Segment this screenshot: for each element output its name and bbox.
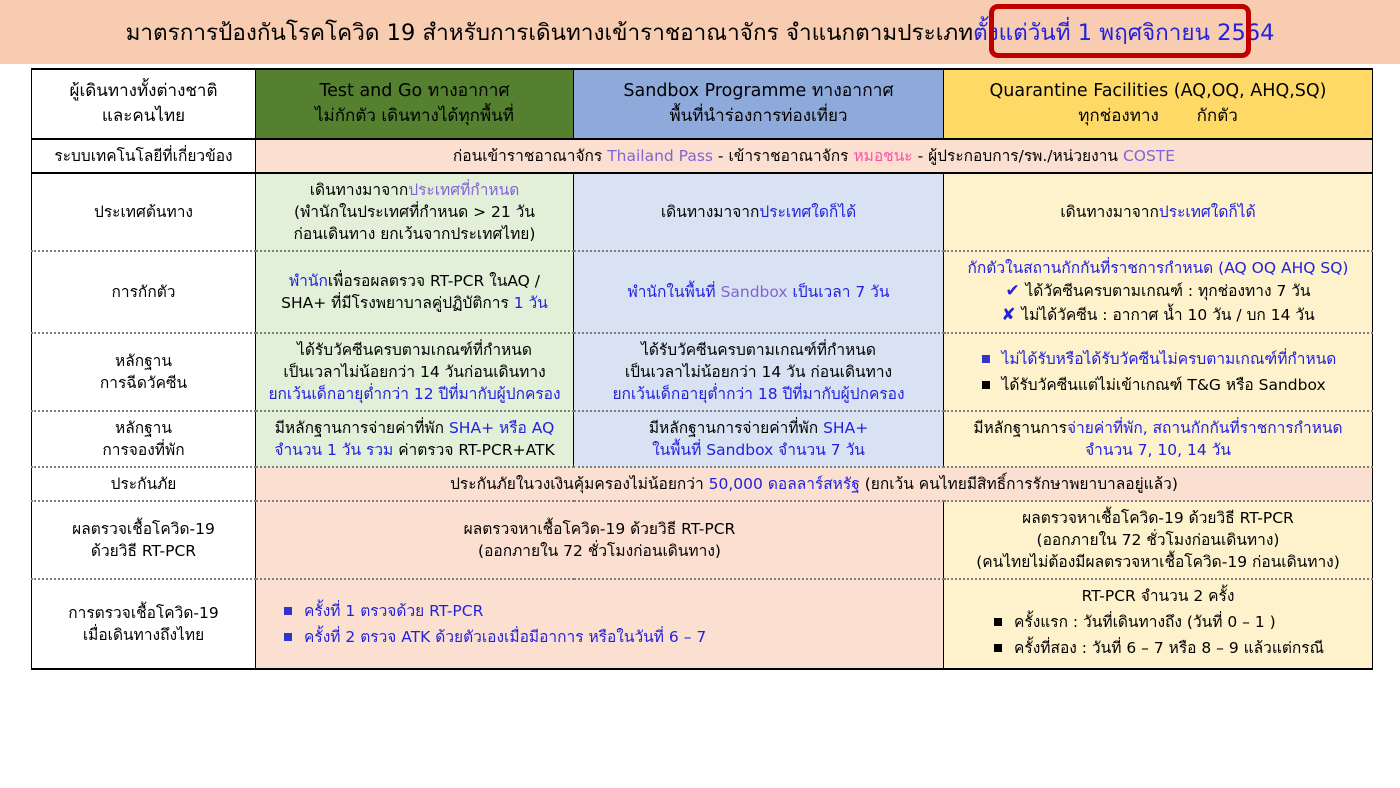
header-tng-line1: Test and Go ทางอากาศ <box>262 79 567 104</box>
cell-arrival-quarantine: RT-PCR จำนวน 2 ครั้ง ครั้งแรก : วันที่เด… <box>944 579 1373 669</box>
quarantine-sandbox-b: Sandbox <box>721 283 788 301</box>
rowlabel-vaccine-line1: หลักฐาน <box>38 350 249 372</box>
rowlabel-quarantine-rule: การกักตัว <box>32 251 256 333</box>
bullet-square-icon <box>994 644 1002 652</box>
header-cell-quarantine: Quarantine Facilities (AQ,OQ, AHQ,SQ) ทุ… <box>944 69 1373 139</box>
insurance-amount: 50,000 ดอลลาร์สหรัฐ <box>709 475 860 493</box>
tech-coste: COSTE <box>1123 147 1175 165</box>
quarantine-sandbox-c: เป็นเวลา 7 วัน <box>793 283 890 301</box>
rowlabel-arrival-test: การตรวจเชื้อโควิด-19 เมื่อเดินทางถึงไทย <box>32 579 256 669</box>
tech-before-entry: ก่อนเข้าราชอาณาจักร <box>453 147 602 165</box>
bullet-square-icon <box>982 355 990 363</box>
origin-sandbox-a: เดินทางมาจาก <box>661 203 760 221</box>
arrival-q-bullet1: ครั้งแรก : วันที่เดินทางถึง (วันที่ 0 – … <box>1014 613 1276 631</box>
cell-origin-quarantine: เดินทางมาจากประเทศใดก็ได้ <box>944 173 1373 251</box>
quarantine-q-line1: กักตัวในสถานกักกันที่ราชการกำหนด (AQ OQ … <box>950 257 1366 279</box>
booking-q-line2: จำนวน 7, 10, 14 วัน <box>950 439 1366 461</box>
origin-tng-line1-a: เดินทางมาจาก <box>310 181 409 199</box>
bullet-square-icon <box>982 381 990 389</box>
rtpcr-q-line2: (ออกภายใน 72 ชั่วโมงก่อนเดินทาง) <box>950 529 1366 551</box>
rtpcr-shared-line2: (ออกภายใน 72 ชั่วโมงก่อนเดินทาง) <box>262 540 937 562</box>
rowlabel-rtpcr-line1: ผลตรวจเชื้อโควิด-19 <box>38 518 249 540</box>
vaccine-sandbox-line2: เป็นเวลาไม่น้อยกว่า 14 วัน ก่อนเดินทาง <box>580 361 937 383</box>
rowlabel-vaccine-proof: หลักฐาน การฉีดวัคซีน <box>32 333 256 411</box>
header-quarantine-isolate: กักตัว <box>1197 106 1238 126</box>
booking-tng-line2: จำนวน 1 วัน รวม ค่าตรวจ RT-PCR+ATK <box>262 439 567 461</box>
list-item: ครั้งที่ 2 ตรวจ ATK ด้วยตัวเองเมื่อมีอาก… <box>282 626 706 648</box>
rtpcr-q-line3: (คนไทยไม่ต้องมีผลตรวจหาเชื้อโควิด-19 ก่อ… <box>950 551 1366 573</box>
cell-arrival-shared: ครั้งที่ 1 ตรวจด้วย RT-PCR ครั้งที่ 2 ตร… <box>256 579 944 669</box>
cell-rtpcr-shared: ผลตรวจหาเชื้อโควิด-19 ด้วยวิธี RT-PCR (อ… <box>256 501 944 579</box>
booking-sb-line1-b: SHA+ <box>823 419 868 437</box>
row-origin-country: ประเทศต้นทาง เดินทางมาจากประเทศที่กำหนด … <box>32 173 1373 251</box>
rowlabel-origin-country: ประเทศต้นทาง <box>32 173 256 251</box>
cell-quarantine-tng: พำนักเพื่อรอผลตรวจ RT-PCR ในAQ / SHA+ ที… <box>256 251 574 333</box>
booking-tng-line2-a: จำนวน 1 วัน รวม <box>274 441 393 459</box>
vaccine-tng-line2: เป็นเวลาไม่น้อยกว่า 14 วันก่อนเดินทาง <box>262 361 567 383</box>
quarantine-q-vaccinated: ได้วัคซีนครบตามเกณฑ์ : ทุกช่องทาง 7 วัน <box>1025 282 1310 300</box>
cell-quarantine-facilities: กักตัวในสถานกักกันที่ราชการกำหนด (AQ OQ … <box>944 251 1373 333</box>
check-icon: ✔ <box>1005 279 1025 303</box>
table-header-row: ผู้เดินทางทั้งต่างชาติ และคนไทย Test and… <box>32 69 1373 139</box>
cell-booking-sandbox: มีหลักฐานการจ่ายค่าที่พัก SHA+ ในพื้นที่… <box>574 411 944 467</box>
row-quarantine-rule: การกักตัว พำนักเพื่อรอผลตรวจ RT-PCR ในAQ… <box>32 251 1373 333</box>
rowlabel-booking-line1: หลักฐาน <box>38 417 249 439</box>
booking-sb-line2: ในพื้นที่ Sandbox จำนวน 7 วัน <box>580 439 937 461</box>
rowlabel-arrival-line1: การตรวจเชื้อโควิด-19 <box>38 602 249 624</box>
tech-operators: ผู้ประกอบการ/รพ./หน่วยงาน <box>928 147 1118 165</box>
cell-booking-quarantine: มีหลักฐานการจ่ายค่าที่พัก, สถานกักกันที่… <box>944 411 1373 467</box>
tech-on-entry: เข้าราชอาณาจักร <box>728 147 848 165</box>
booking-tng-line1-b: SHA+ หรือ AQ <box>449 419 554 437</box>
row-insurance: ประกันภัย ประกันภัยในวงเงินคุ้มครองไม่น้… <box>32 467 1373 501</box>
quarantine-tng-await: เพื่อรอผลตรวจ RT-PCR ใน <box>328 272 507 290</box>
title-banner: มาตรการป้องกันโรคโควิด 19 สำหรับการเดินท… <box>0 0 1400 64</box>
header-cell-traveler: ผู้เดินทางทั้งต่างชาติ และคนไทย <box>32 69 256 139</box>
cell-vaccine-sandbox: ได้รับวัคซีนครบตามเกณฑ์ที่กำหนด เป็นเวลา… <box>574 333 944 411</box>
page-root: มาตรการป้องกันโรคโควิด 19 สำหรับการเดินท… <box>0 0 1400 788</box>
vaccine-q-bullet1: ไม่ได้รับหรือได้รับวัคซีนไม่ครบตามเกณฑ์ท… <box>1002 350 1337 368</box>
header-traveler-line2: และคนไทย <box>38 104 249 129</box>
cell-tech-system-all: ก่อนเข้าราชอาณาจักร Thailand Pass - เข้า… <box>256 139 1373 173</box>
tech-sep-2: - <box>918 147 924 165</box>
insurance-exception: (ยกเว้น คนไทยมีสิทธิ์การรักษาพยาบาลอยู่แ… <box>865 475 1178 493</box>
cross-icon: ✘ <box>1001 303 1021 327</box>
tech-thailand-pass: Thailand Pass <box>607 147 713 165</box>
quarantine-tng-shaplus: SHA+ ที่มีโรงพยาบาลคู่ปฏิบัติการ <box>281 294 509 312</box>
rowlabel-arrival-line2: เมื่อเดินทางถึงไทย <box>38 624 249 646</box>
list-item: ไม่ได้รับหรือได้รับวัคซีนไม่ครบตามเกณฑ์ท… <box>980 348 1337 370</box>
origin-sandbox-b: ประเทศใดก็ได้ <box>759 203 856 221</box>
booking-q-line1: มีหลักฐานการจ่ายค่าที่พัก, สถานกักกันที่… <box>950 417 1366 439</box>
quarantine-q-line2: ✔ได้วัคซีนครบตามเกณฑ์ : ทุกช่องทาง 7 วัน <box>950 279 1366 303</box>
cell-quarantine-sandbox: พำนักในพื้นที่ Sandbox เป็นเวลา 7 วัน <box>574 251 944 333</box>
measures-table: ผู้เดินทางทั้งต่างชาติ และคนไทย Test and… <box>31 68 1373 670</box>
quarantine-tng-line2: SHA+ ที่มีโรงพยาบาลคู่ปฏิบัติการ 1 วัน <box>262 292 567 314</box>
cell-origin-tng: เดินทางมาจากประเทศที่กำหนด (พำนักในประเท… <box>256 173 574 251</box>
booking-tng-line1-a: มีหลักฐานการจ่ายค่าที่พัก <box>275 419 444 437</box>
header-traveler-line1: ผู้เดินทางทั้งต่างชาติ <box>38 79 249 104</box>
rowlabel-vaccine-line2: การฉีดวัคซีน <box>38 372 249 394</box>
rtpcr-shared-line1: ผลตรวจหาเชื้อโควิด-19 ด้วยวิธี RT-PCR <box>262 518 937 540</box>
quarantine-q-line3: ✘ไม่ได้วัคซีน : อากาศ น้ำ 10 วัน / บก 14… <box>950 303 1366 327</box>
list-item: ได้รับวัคซีนแต่ไม่เข้าเกณฑ์ T&G หรือ San… <box>980 374 1337 396</box>
arrival-quarantine-bullets: ครั้งแรก : วันที่เดินทางถึง (วันที่ 0 – … <box>992 607 1324 663</box>
vaccine-q-bullet2: ได้รับวัคซีนแต่ไม่เข้าเกณฑ์ T&G หรือ San… <box>1002 376 1326 394</box>
bullet-square-icon <box>284 607 292 615</box>
arrival-shared-bullet2: ครั้งที่ 2 ตรวจ ATK ด้วยตัวเองเมื่อมีอาก… <box>304 628 706 646</box>
booking-sb-line1-a: มีหลักฐานการจ่ายค่าที่พัก <box>649 419 818 437</box>
insurance-text-1: ประกันภัยในวงเงินคุ้มครองไม่น้อยกว่า <box>450 475 704 493</box>
booking-q-line1-b: จ่ายค่าที่พัก, สถานกักกันที่ราชการกำหนด <box>1067 419 1343 437</box>
quarantine-tng-days: 1 วัน <box>514 294 548 312</box>
quarantine-tng-aq: AQ / <box>507 272 540 290</box>
tech-mor-chana: หมอชนะ <box>853 147 912 165</box>
bullet-square-icon <box>994 618 1002 626</box>
header-quarantine-line1: Quarantine Facilities (AQ,OQ, AHQ,SQ) <box>950 79 1366 104</box>
origin-tng-line1: เดินทางมาจากประเทศที่กำหนด <box>262 179 567 201</box>
row-booking-proof: หลักฐาน การจองที่พัก มีหลักฐานการจ่ายค่า… <box>32 411 1373 467</box>
booking-tng-line1: มีหลักฐานการจ่ายค่าที่พัก SHA+ หรือ AQ <box>262 417 567 439</box>
header-sandbox-line2: พื้นที่นำร่องการท่องเที่ยว <box>580 104 937 129</box>
header-cell-test-and-go: Test and Go ทางอากาศ ไม่กักตัว เดินทางได… <box>256 69 574 139</box>
rowlabel-insurance: ประกันภัย <box>32 467 256 501</box>
cell-rtpcr-quarantine: ผลตรวจหาเชื้อโควิด-19 ด้วยวิธี RT-PCR (อ… <box>944 501 1373 579</box>
cell-vaccine-quarantine: ไม่ได้รับหรือได้รับวัคซีนไม่ครบตามเกณฑ์ท… <box>944 333 1373 411</box>
origin-tng-line3: ก่อนเดินทาง ยกเว้นจากประเทศไทย) <box>262 223 567 245</box>
list-item: ครั้งที่สอง : วันที่ 6 – 7 หรือ 8 – 9 แล… <box>992 637 1324 659</box>
booking-q-line1-a: มีหลักฐานการ <box>973 419 1067 437</box>
quarantine-sandbox-a: พำนักในพื้นที่ <box>628 283 716 301</box>
vaccine-sandbox-line1: ได้รับวัคซีนครบตามเกณฑ์ที่กำหนด <box>580 339 937 361</box>
quarantine-tng-line1: พำนักเพื่อรอผลตรวจ RT-PCR ในAQ / <box>262 270 567 292</box>
page-title-main: มาตรการป้องกันโรคโควิด 19 สำหรับการเดินท… <box>126 20 973 46</box>
bullet-square-icon <box>284 633 292 641</box>
row-rtpcr-result: ผลตรวจเชื้อโควิด-19 ด้วยวิธี RT-PCR ผลตร… <box>32 501 1373 579</box>
booking-tng-line2-b: ค่าตรวจ RT-PCR+ATK <box>398 441 554 459</box>
header-quarantine-channel: ทุกช่องทาง <box>1078 106 1159 126</box>
rtpcr-q-line1: ผลตรวจหาเชื้อโควิด-19 ด้วยวิธี RT-PCR <box>950 507 1366 529</box>
booking-sandbox-line1: มีหลักฐานการจ่ายค่าที่พัก SHA+ <box>580 417 937 439</box>
list-item: ครั้งแรก : วันที่เดินทางถึง (วันที่ 0 – … <box>992 611 1324 633</box>
cell-booking-tng: มีหลักฐานการจ่ายค่าที่พัก SHA+ หรือ AQ จ… <box>256 411 574 467</box>
header-quarantine-line2: ทุกช่องทาง กักตัว <box>950 104 1366 129</box>
row-tech-system: ระบบเทคโนโลยีที่เกี่ยวข้อง ก่อนเข้าราชอา… <box>32 139 1373 173</box>
header-tng-line2: ไม่กักตัว เดินทางได้ทุกพื้นที่ <box>262 104 567 129</box>
origin-quarantine-b: ประเทศใดก็ได้ <box>1159 203 1256 221</box>
cell-insurance-all: ประกันภัยในวงเงินคุ้มครองไม่น้อยกว่า 50,… <box>256 467 1373 501</box>
quarantine-tng-stay: พำนัก <box>289 272 328 290</box>
cell-vaccine-tng: ได้รับวัคซีนครบตามเกณฑ์ที่กำหนด เป็นเวลา… <box>256 333 574 411</box>
rowlabel-tech-system: ระบบเทคโนโลยีที่เกี่ยวข้อง <box>32 139 256 173</box>
arrival-q-bullet2: ครั้งที่สอง : วันที่ 6 – 7 หรือ 8 – 9 แล… <box>1014 639 1324 657</box>
rowlabel-booking-line2: การจองที่พัก <box>38 439 249 461</box>
cell-origin-sandbox: เดินทางมาจากประเทศใดก็ได้ <box>574 173 944 251</box>
rowlabel-rtpcr-line2: ด้วยวิธี RT-PCR <box>38 540 249 562</box>
arrival-shared-bullets: ครั้งที่ 1 ตรวจด้วย RT-PCR ครั้งที่ 2 ตร… <box>282 596 706 652</box>
origin-quarantine-a: เดินทางมาจาก <box>1060 203 1159 221</box>
quarantine-q-unvaccinated: ไม่ได้วัคซีน : อากาศ น้ำ 10 วัน / บก 14 … <box>1021 306 1314 324</box>
header-cell-sandbox: Sandbox Programme ทางอากาศ พื้นที่นำร่อง… <box>574 69 944 139</box>
header-sandbox-line1: Sandbox Programme ทางอากาศ <box>580 79 937 104</box>
origin-tng-line1-b: ประเทศที่กำหนด <box>408 181 519 199</box>
rowlabel-rtpcr-result: ผลตรวจเชื้อโควิด-19 ด้วยวิธี RT-PCR <box>32 501 256 579</box>
vaccine-tng-line1: ได้รับวัคซีนครบตามเกณฑ์ที่กำหนด <box>262 339 567 361</box>
arrival-q-line1: RT-PCR จำนวน 2 ครั้ง <box>950 585 1366 607</box>
page-title: มาตรการป้องกันโรคโควิด 19 สำหรับการเดินท… <box>126 14 1275 50</box>
origin-tng-line2: (พำนักในประเทศที่กำหนด > 21 วัน <box>262 201 567 223</box>
rowlabel-booking-proof: หลักฐาน การจองที่พัก <box>32 411 256 467</box>
vaccine-tng-line3: ยกเว้นเด็กอายุต่ำกว่า 12 ปีที่มากับผู้ปก… <box>262 383 567 405</box>
vaccine-sandbox-line3: ยกเว้นเด็กอายุต่ำกว่า 18 ปีที่มากับผู้ปก… <box>580 383 937 405</box>
vaccine-quarantine-bullets: ไม่ได้รับหรือได้รับวัคซีนไม่ครบตามเกณฑ์ท… <box>980 344 1337 400</box>
tech-sep-1: - <box>718 147 724 165</box>
row-vaccine-proof: หลักฐาน การฉีดวัคซีน ได้รับวัคซีนครบตามเ… <box>32 333 1373 411</box>
row-arrival-test: การตรวจเชื้อโควิด-19 เมื่อเดินทางถึงไทย … <box>32 579 1373 669</box>
list-item: ครั้งที่ 1 ตรวจด้วย RT-PCR <box>282 600 706 622</box>
page-title-date: ตั้งแต่วันที่ 1 พฤศจิกายน 2564 <box>973 20 1274 46</box>
arrival-shared-bullet1: ครั้งที่ 1 ตรวจด้วย RT-PCR <box>304 602 483 620</box>
